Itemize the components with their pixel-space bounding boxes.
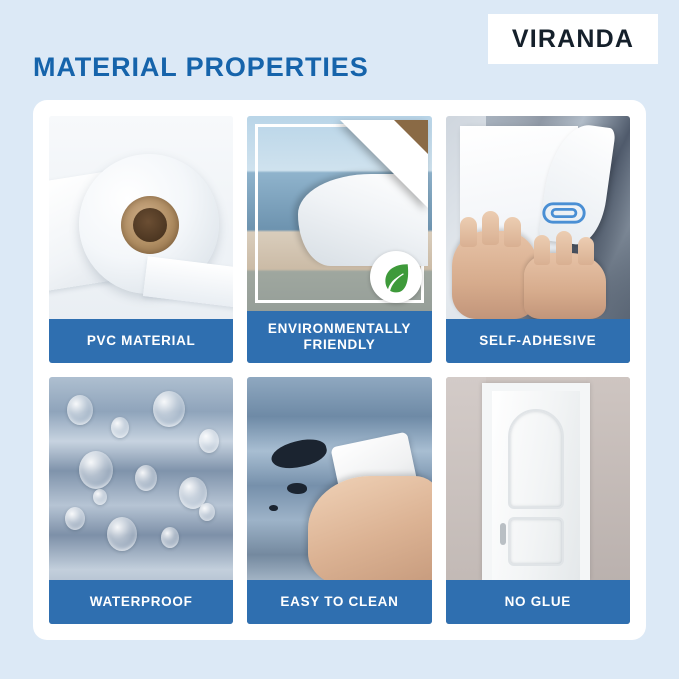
door-handle-shape [500,523,506,545]
feature-tile-self-adhesive[interactable]: SELF-ADHESIVE [446,116,630,363]
water-droplet-shape [111,417,129,438]
finger-shape [482,211,499,245]
feature-tile-no-glue[interactable]: NO GLUE [446,377,630,624]
feature-label-pvc-material: PVC MATERIAL [49,319,233,363]
finger-shape [578,237,594,265]
water-droplet-shape [135,465,157,491]
brand-badge: VIRANDA [488,14,658,64]
door-panel-lower [508,517,564,566]
water-droplet-shape [199,429,219,453]
roll-core-hole-shape [133,208,167,242]
hand-shape [308,476,432,586]
finger-shape [504,217,521,247]
water-droplet-shape [79,451,113,489]
features-grid: PVC MATERIAL [49,116,630,624]
feature-tile-waterproof[interactable]: WATERPROOF [49,377,233,624]
water-droplet-shape [161,527,179,548]
water-droplet-shape [107,517,137,551]
finger-shape [556,231,572,265]
finger-shape [460,217,477,247]
water-droplet-shape [67,395,93,425]
page-title: MATERIAL PROPERTIES [33,52,369,83]
water-droplet-shape [65,507,85,530]
water-droplet-shape [199,503,215,521]
feature-tile-environmentally-friendly[interactable]: ENVIRONMENTALLY FRIENDLY [247,116,431,363]
finger-shape [534,235,550,265]
paperclip-icon [542,200,586,226]
feature-tile-easy-to-clean[interactable]: EASY TO CLEAN [247,377,431,624]
features-card: PVC MATERIAL [33,100,646,640]
roll-tail-shape [143,256,233,307]
feature-label-easy-to-clean: EASY TO CLEAN [247,580,431,624]
stain-shape [287,483,307,494]
feature-tile-pvc-material[interactable]: PVC MATERIAL [49,116,233,363]
brand-name: VIRANDA [512,25,634,54]
feature-label-environmentally-friendly: ENVIRONMENTALLY FRIENDLY [247,311,431,363]
leaf-icon [370,251,422,303]
stain-shape [269,435,330,474]
feature-label-self-adhesive: SELF-ADHESIVE [446,319,630,363]
peeling-corner-backing [394,120,428,154]
door-frame-shape [482,383,590,580]
door-slab-shape [492,391,580,580]
feature-label-waterproof: WATERPROOF [49,580,233,624]
stain-shape [269,505,278,511]
feature-label-no-glue: NO GLUE [446,580,630,624]
door-panel-upper [508,409,564,509]
water-droplet-shape [153,391,185,427]
poster-canvas: VIRANDA MATERIAL PROPERTIES PVC MATERIAL [0,0,679,679]
water-droplet-shape [93,489,107,505]
hand-right-shape [524,253,606,319]
